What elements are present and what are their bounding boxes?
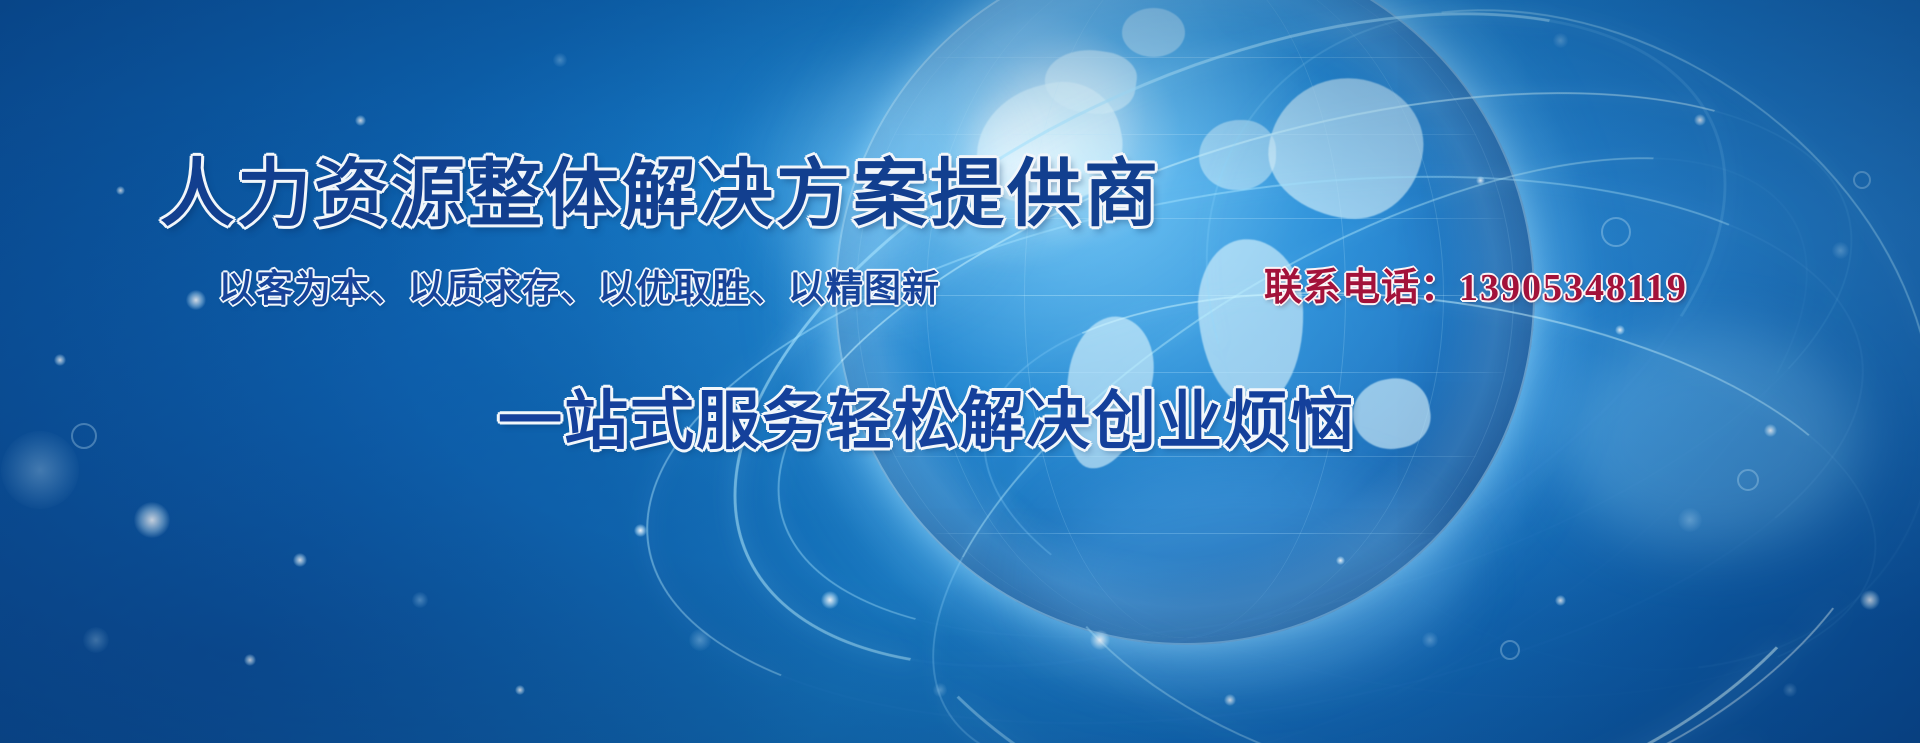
contact-phone-block[interactable]: 联系电话：13905348119 <box>1264 256 1688 311</box>
contact-phone-number[interactable]: 13905348119 <box>1459 267 1688 309</box>
banner-text-layer: 人力资源整体解决方案提供商 以客为本、以质求存、以优取胜、以精图新 联系电话：1… <box>0 0 1920 743</box>
banner-headline: 人力资源整体解决方案提供商 <box>160 134 1161 241</box>
banner-subtitle-slogan: 以客为本、以质求存、以优取胜、以精图新 <box>218 258 940 312</box>
contact-phone-label: 联系电话： <box>1264 267 1459 309</box>
hr-services-promo-banner: 人力资源整体解决方案提供商 以客为本、以质求存、以优取胜、以精图新 联系电话：1… <box>0 0 1920 743</box>
banner-tagline: 一站式服务轻松解决创业烦恼 <box>498 370 1356 462</box>
